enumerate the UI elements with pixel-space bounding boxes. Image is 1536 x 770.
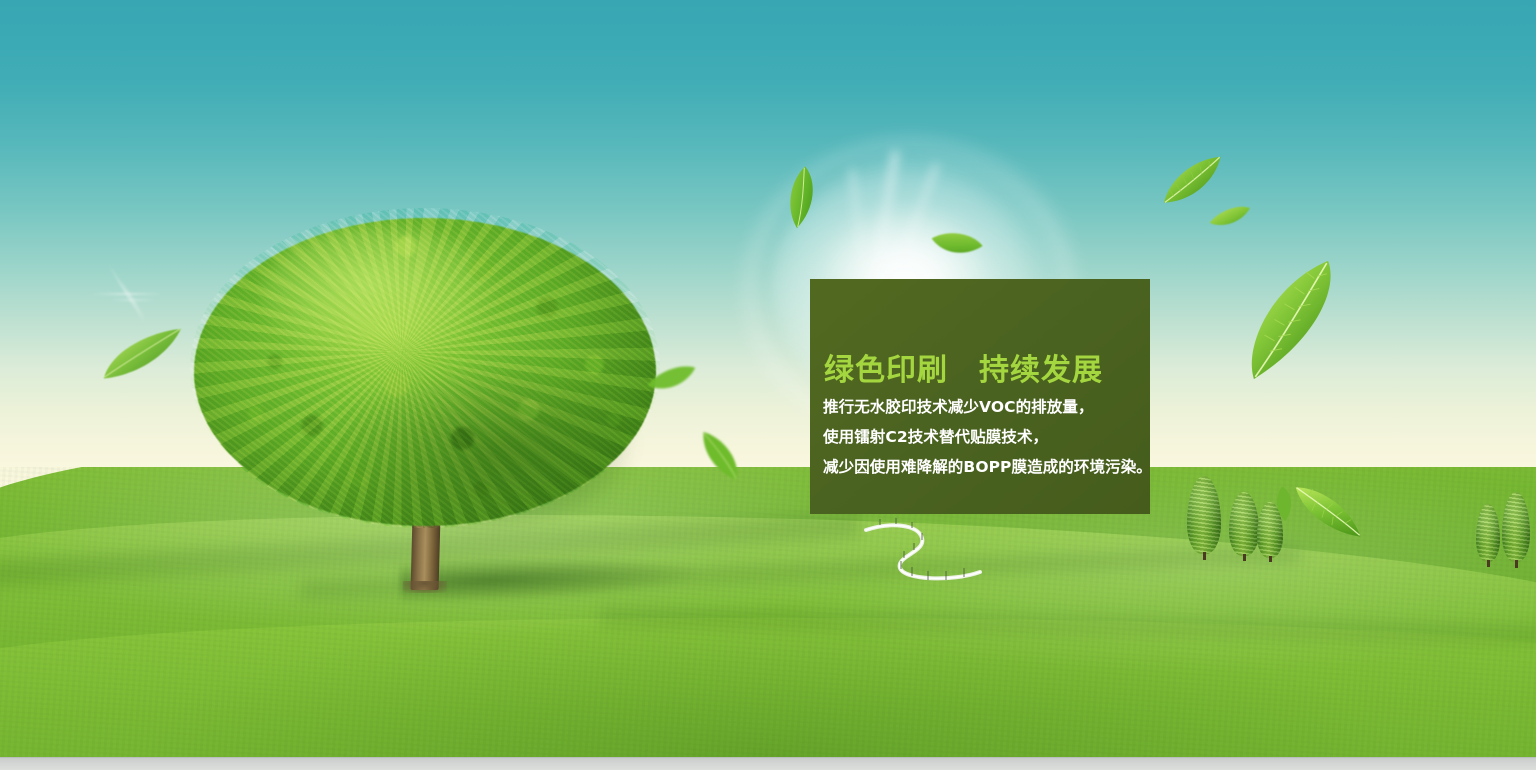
tree-canopy-shade: [330, 358, 630, 528]
cypress-tree: [1187, 476, 1221, 554]
cypress-trunk: [1487, 560, 1490, 567]
floating-leaf: [1236, 250, 1345, 389]
winding-footpath: [860, 516, 1010, 584]
footpath-icon: [860, 516, 1010, 584]
leaf-icon: [1236, 250, 1345, 389]
panel-body-line: 使用镭射C2技术替代贴膜技术，: [823, 422, 1153, 452]
panel-title: 绿色印刷 持续发展: [824, 345, 1103, 389]
promo-text-panel: 绿色印刷 持续发展 推行无水胶印技术减少VOC的排放量， 使用镭射C2技术替代贴…: [810, 279, 1150, 514]
cypress-tree: [1229, 492, 1259, 556]
panel-body-line: 推行无水胶印技术减少VOC的排放量，: [823, 392, 1153, 422]
cypress-trunk: [1243, 554, 1246, 561]
cypress-tree: [1476, 504, 1500, 562]
panel-body-line: 减少因使用难降解的BOPP膜造成的环境污染。: [823, 452, 1153, 482]
tree-canopy-highlight: [260, 226, 500, 366]
panel-body: 推行无水胶印技术减少VOC的排放量， 使用镭射C2技术替代贴膜技术， 减少因使用…: [823, 392, 1153, 482]
cypress-tree: [1502, 492, 1530, 562]
large-deciduous-tree: [190, 208, 660, 593]
sparkle-icon: [110, 276, 156, 322]
cypress-trunk: [1515, 560, 1518, 568]
cypress-trees: [1476, 492, 1536, 570]
page-bottom-bar: [0, 757, 1536, 770]
hero-banner: 绿色印刷 持续发展 推行无水胶印技术减少VOC的排放量， 使用镭射C2技术替代贴…: [0, 0, 1536, 770]
cypress-trunk: [1269, 556, 1272, 562]
cypress-trunk: [1203, 552, 1206, 560]
